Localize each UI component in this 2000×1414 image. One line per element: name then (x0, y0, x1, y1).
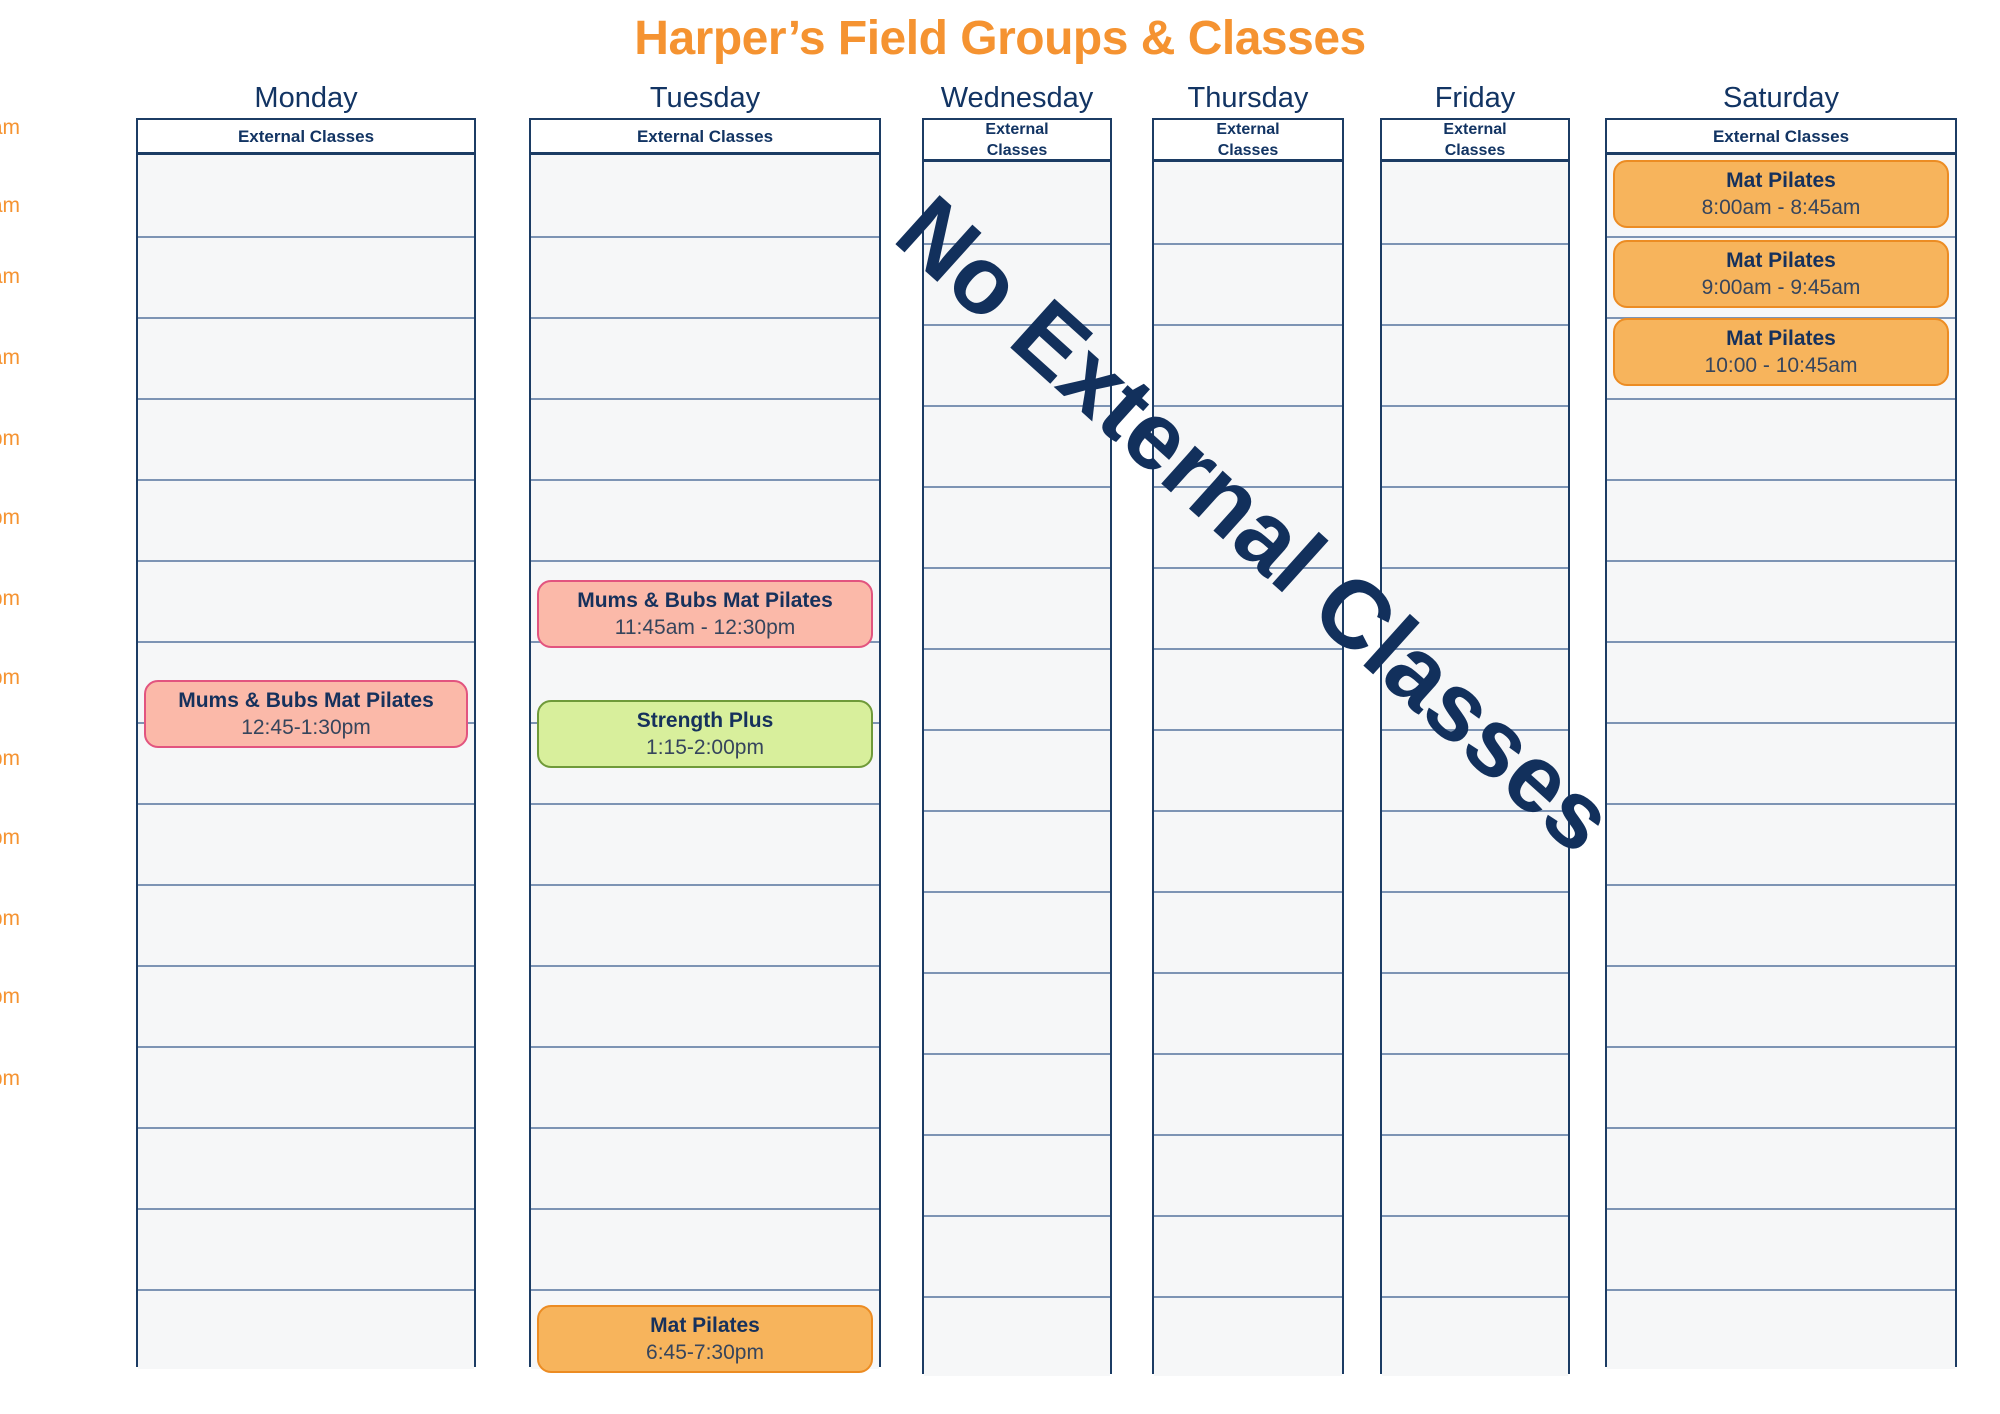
hour-gridline (1154, 1053, 1342, 1055)
column-header-monday: External Classes (138, 120, 474, 155)
hour-gridline (531, 1289, 879, 1291)
hour-gridline (138, 884, 474, 886)
grid-body (1382, 162, 1568, 1376)
day-column-tuesday: TuesdayExternal ClassesMums & Bubs Mat P… (529, 80, 881, 1367)
hour-gridline (924, 891, 1110, 893)
grid-body: Mums & Bubs Mat Pilates12:45-1:30pm (138, 155, 474, 1369)
hour-gridline (1382, 1296, 1568, 1298)
event-title: Mat Pilates (650, 1313, 760, 1339)
event-time: 8:00am - 8:45am (1702, 194, 1861, 221)
hour-gridline (138, 1046, 474, 1048)
event-title: Mums & Bubs Mat Pilates (577, 588, 833, 614)
hour-gridline (1607, 1208, 1955, 1210)
event-time: 9:00am - 9:45am (1702, 274, 1861, 301)
event-card[interactable]: Mat Pilates10:00 - 10:45am (1613, 318, 1949, 386)
hour-gridline (138, 398, 474, 400)
hour-gridline (924, 810, 1110, 812)
hour-gridline (924, 972, 1110, 974)
event-card[interactable]: Mat Pilates6:45-7:30pm (537, 1305, 873, 1373)
hour-gridline (1154, 891, 1342, 893)
hour-gridline (1154, 243, 1342, 245)
event-time: 12:45-1:30pm (241, 714, 371, 741)
hour-gridline (531, 884, 879, 886)
column-header-label: External Classes (967, 119, 1067, 161)
hour-gridline (531, 803, 879, 805)
hour-gridline (1607, 641, 1955, 643)
event-card[interactable]: Mums & Bubs Mat Pilates12:45-1:30pm (144, 680, 468, 748)
hour-gridline (531, 1127, 879, 1129)
hour-gridline (924, 648, 1110, 650)
column-header-label: External Classes (637, 126, 773, 147)
hour-gridline (1154, 1215, 1342, 1217)
hour-gridline (531, 1046, 879, 1048)
event-card[interactable]: Mums & Bubs Mat Pilates11:45am - 12:30pm (537, 580, 873, 648)
hour-gridline (1154, 1296, 1342, 1298)
column-header-tuesday: External Classes (531, 120, 879, 155)
hour-gridline (1154, 972, 1342, 974)
hour-gridline (924, 243, 1110, 245)
grid-body: Mums & Bubs Mat Pilates11:45am - 12:30pm… (531, 155, 879, 1369)
hour-gridline (924, 729, 1110, 731)
day-heading-tuesday: Tuesday (529, 80, 881, 116)
column-header-wednesday: External Classes (924, 120, 1110, 162)
day-grid-friday: External Classes (1380, 118, 1570, 1374)
hour-gridline (1382, 1215, 1568, 1217)
event-title: Strength Plus (637, 708, 774, 734)
day-column-friday: FridayExternal Classes (1380, 80, 1570, 1374)
grid-body (1154, 162, 1342, 1376)
day-heading-saturday: Saturday (1605, 80, 1957, 116)
hour-gridline (531, 965, 879, 967)
event-title: Mat Pilates (1726, 326, 1836, 352)
hour-gridline (1607, 1289, 1955, 1291)
hour-gridline (531, 1208, 879, 1210)
hour-gridline (1382, 1053, 1568, 1055)
column-header-saturday: External Classes (1607, 120, 1955, 155)
hour-gridline (531, 236, 879, 238)
hour-gridline (1382, 648, 1568, 650)
day-grid-tuesday: External ClassesMums & Bubs Mat Pilates1… (529, 118, 881, 1367)
column-header-label: External Classes (1425, 119, 1525, 161)
hour-gridline (1607, 479, 1955, 481)
day-heading-friday: Friday (1380, 80, 1570, 116)
hour-gridline (531, 479, 879, 481)
hour-gridline (138, 560, 474, 562)
day-grid-saturday: External ClassesMat Pilates8:00am - 8:45… (1605, 118, 1957, 1367)
hour-gridline (138, 1208, 474, 1210)
hour-gridline (1154, 729, 1342, 731)
hour-gridline (1382, 567, 1568, 569)
hour-gridline (1154, 567, 1342, 569)
hour-gridline (1607, 560, 1955, 562)
event-time: 6:45-7:30pm (646, 1339, 764, 1366)
day-heading-wednesday: Wednesday (922, 80, 1112, 116)
hour-gridline (924, 324, 1110, 326)
event-card[interactable]: Mat Pilates9:00am - 9:45am (1613, 240, 1949, 308)
hour-gridline (1607, 1127, 1955, 1129)
day-grid-wednesday: External Classes (922, 118, 1112, 1374)
hour-gridline (138, 641, 474, 643)
hour-gridline (138, 479, 474, 481)
hour-gridline (138, 965, 474, 967)
hour-gridline (1382, 486, 1568, 488)
day-heading-monday: Monday (136, 80, 476, 116)
hour-gridline (924, 1134, 1110, 1136)
event-time: 11:45am - 12:30pm (615, 614, 796, 641)
hour-gridline (1607, 722, 1955, 724)
hour-gridline (924, 567, 1110, 569)
hour-gridline (1154, 810, 1342, 812)
grid-body (924, 162, 1110, 1376)
hour-gridline (138, 236, 474, 238)
hour-gridline (138, 1289, 474, 1291)
event-time: 10:00 - 10:45am (1705, 352, 1858, 379)
event-title: Mat Pilates (1726, 248, 1836, 274)
hour-gridline (1154, 486, 1342, 488)
hour-gridline (1382, 972, 1568, 974)
hour-gridline (531, 560, 879, 562)
column-header-friday: External Classes (1382, 120, 1568, 162)
column-header-thursday: External Classes (1154, 120, 1342, 162)
column-header-label: External Classes (238, 126, 374, 147)
day-column-wednesday: WednesdayExternal Classes (922, 80, 1112, 1374)
hour-gridline (1382, 1134, 1568, 1136)
day-column-saturday: SaturdayExternal ClassesMat Pilates8:00a… (1605, 80, 1957, 1367)
hour-gridline (531, 398, 879, 400)
hour-gridline (1607, 236, 1955, 238)
hour-gridline (1154, 648, 1342, 650)
grid-body: Mat Pilates8:00am - 8:45amMat Pilates9:0… (1607, 155, 1955, 1369)
hour-gridline (1154, 1134, 1342, 1136)
hour-gridline (1154, 324, 1342, 326)
day-column-thursday: ThursdayExternal Classes (1152, 80, 1344, 1374)
hour-gridline (1382, 891, 1568, 893)
day-grid-monday: External ClassesMums & Bubs Mat Pilates1… (136, 118, 476, 1367)
hour-gridline (924, 405, 1110, 407)
day-column-monday: MondayExternal ClassesMums & Bubs Mat Pi… (136, 80, 476, 1367)
event-title: Mat Pilates (1726, 168, 1836, 194)
day-heading-thursday: Thursday (1152, 80, 1344, 116)
hour-gridline (138, 317, 474, 319)
hour-gridline (1607, 884, 1955, 886)
hour-gridline (924, 1053, 1110, 1055)
event-card[interactable]: Mat Pilates8:00am - 8:45am (1613, 160, 1949, 228)
weekly-schedule-grid: MondayExternal ClassesMums & Bubs Mat Pi… (0, 0, 2000, 1414)
hour-gridline (1154, 405, 1342, 407)
hour-gridline (1382, 810, 1568, 812)
hour-gridline (1382, 405, 1568, 407)
hour-gridline (1607, 398, 1955, 400)
column-header-label: External Classes (1713, 126, 1849, 147)
day-grid-thursday: External Classes (1152, 118, 1344, 1374)
event-card[interactable]: Strength Plus1:15-2:00pm (537, 700, 873, 768)
hour-gridline (531, 317, 879, 319)
hour-gridline (924, 486, 1110, 488)
hour-gridline (1607, 803, 1955, 805)
hour-gridline (1382, 729, 1568, 731)
hour-gridline (924, 1215, 1110, 1217)
hour-gridline (924, 1296, 1110, 1298)
hour-gridline (138, 803, 474, 805)
column-header-label: External Classes (1198, 119, 1298, 161)
hour-gridline (1607, 965, 1955, 967)
hour-gridline (1382, 243, 1568, 245)
event-time: 1:15-2:00pm (646, 734, 764, 761)
event-title: Mums & Bubs Mat Pilates (178, 688, 434, 714)
hour-gridline (1382, 324, 1568, 326)
hour-gridline (1607, 1046, 1955, 1048)
hour-gridline (138, 1127, 474, 1129)
